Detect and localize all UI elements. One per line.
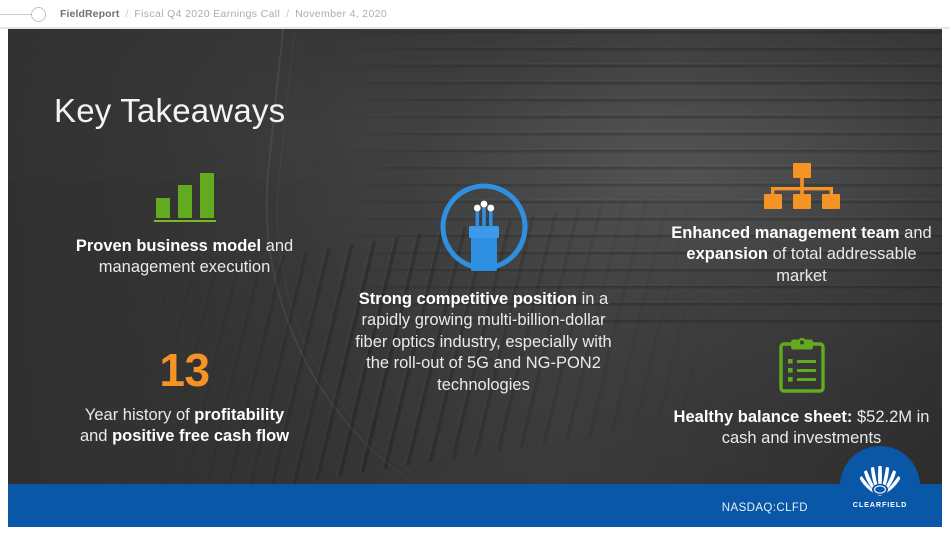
takeaway-4-text: of total addressable market bbox=[768, 245, 917, 284]
takeaway-strong-competitive-position: Strong competitive position in a rapidly… bbox=[345, 181, 622, 396]
breadcrumb-item-call[interactable]: Fiscal Q4 2020 Earnings Call bbox=[134, 8, 280, 20]
takeaway-5-bold: Healthy balance sheet: bbox=[674, 408, 853, 426]
line-icon bbox=[0, 14, 32, 15]
breadcrumb-separator-2: / bbox=[286, 8, 289, 20]
takeaway-4-mid: and bbox=[900, 224, 932, 242]
clearfield-shell-logo bbox=[859, 464, 901, 497]
page-title: Key Takeaways bbox=[54, 92, 285, 130]
takeaway-2-line2-bold: positive free cash flow bbox=[112, 427, 289, 445]
bar-chart-icon bbox=[46, 174, 323, 222]
org-chart-icon bbox=[663, 163, 940, 209]
breadcrumb-brand[interactable]: FieldReport bbox=[60, 8, 119, 20]
takeaway-13-year-history: 13 Year history of profitability and pos… bbox=[36, 347, 333, 448]
stat-number: 13 bbox=[36, 347, 333, 393]
slide-viewer: FieldReport / Fiscal Q4 2020 Earnings Ca… bbox=[0, 0, 950, 535]
takeaway-proven-business-model: Proven business model and management exe… bbox=[46, 174, 323, 279]
clearfield-logo-text: CLEARFIELD bbox=[853, 500, 908, 509]
takeaway-2-line1-prefix: Year history of bbox=[85, 406, 194, 424]
ticker-symbol: NASDAQ:CLFD bbox=[722, 502, 808, 514]
fiber-optic-cable-circle-icon bbox=[345, 181, 622, 273]
breadcrumb-item-date[interactable]: November 4, 2020 bbox=[295, 8, 387, 20]
breadcrumb-bar: FieldReport / Fiscal Q4 2020 Earnings Ca… bbox=[0, 0, 950, 28]
line-dot-icon bbox=[31, 7, 46, 22]
takeaway-3-bold: Strong competitive position bbox=[359, 290, 577, 308]
takeaway-4-bold-2: expansion bbox=[686, 245, 768, 263]
slide-canvas: Key Takeaways Proven business model and … bbox=[8, 29, 942, 527]
clearfield-logo: CLEARFIELD bbox=[840, 446, 920, 526]
takeaway-2-line1-bold: profitability bbox=[194, 406, 284, 424]
takeaway-enhanced-management: Enhanced management team and expansion o… bbox=[663, 163, 940, 287]
takeaway-2-line2-prefix: and bbox=[80, 427, 112, 445]
breadcrumb: FieldReport / Fiscal Q4 2020 Earnings Ca… bbox=[60, 8, 387, 20]
takeaway-4-bold-1: Enhanced management team bbox=[671, 224, 899, 242]
takeaway-1-bold: Proven business model bbox=[76, 237, 261, 255]
clipboard-checklist-icon bbox=[663, 337, 940, 393]
takeaway-healthy-balance-sheet: Healthy balance sheet: $52.2M in cash an… bbox=[663, 337, 940, 450]
breadcrumb-separator-1: / bbox=[125, 8, 128, 20]
